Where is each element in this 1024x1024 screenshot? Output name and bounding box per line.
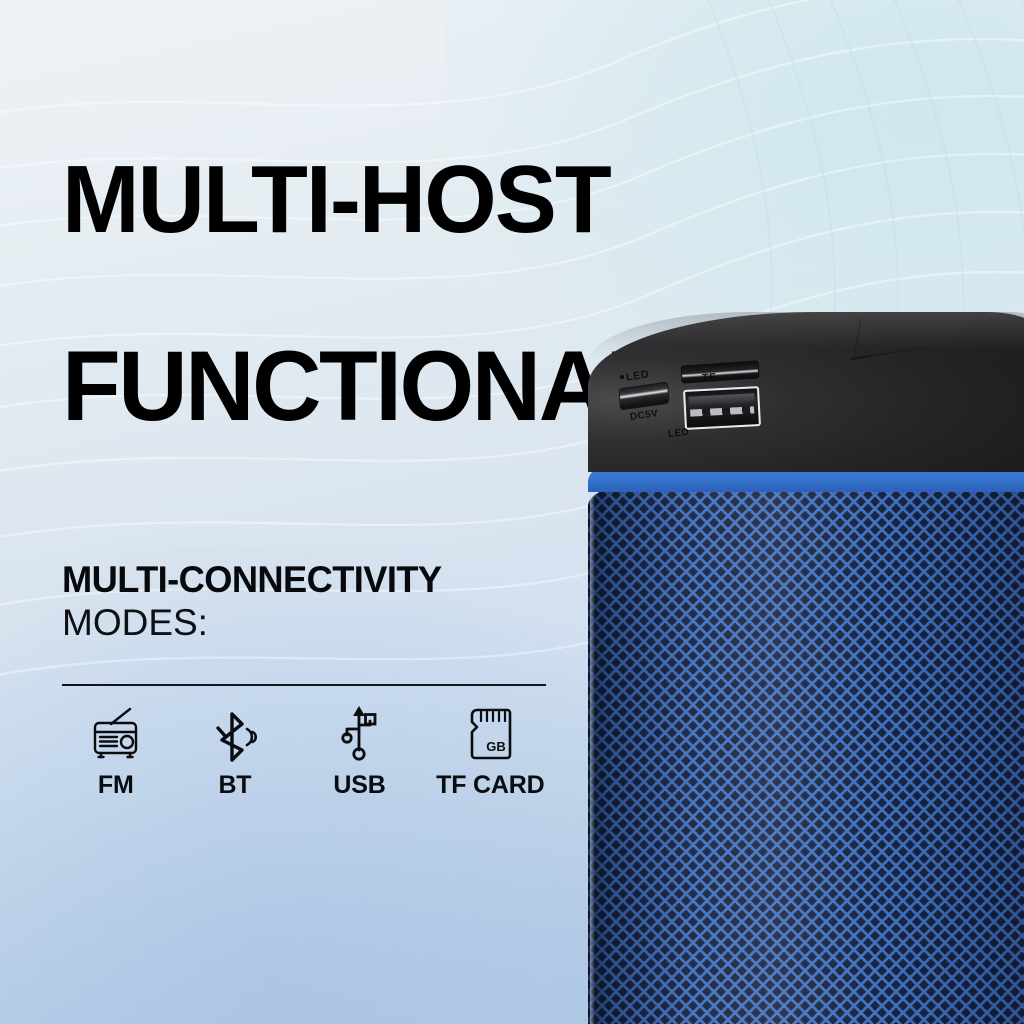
port-label-led-bottom: LED: [667, 427, 689, 441]
usb-port-contacts: [690, 406, 754, 416]
product-feature-banner: MULTI-HOST FUNCTIONALITY MULTI-CONNECTIV…: [0, 0, 1024, 1024]
feature-block-subtitle: MODES:: [62, 602, 562, 645]
connectivity-modes-list: FM BT: [58, 704, 558, 800]
mode-item-usb: USB: [296, 704, 422, 800]
usb-a-port: [683, 386, 761, 430]
feature-block: MULTI-CONNECTIVITY MODES:: [62, 560, 562, 645]
mode-label-fm: FM: [98, 771, 134, 800]
mode-label-bt: BT: [218, 771, 251, 800]
headline-line-1: MULTI-HOST: [62, 154, 935, 246]
mode-label-usb: USB: [333, 771, 385, 800]
sd-card-gb-text: GB: [487, 739, 507, 754]
product-image-bluetooth-speaker: LED DC5V TF LED: [588, 312, 1024, 1024]
tf-card-slot: [682, 361, 759, 382]
mode-item-fm: FM: [58, 704, 174, 800]
sd-card-icon: GB: [466, 704, 514, 762]
mode-label-tf-card: TF CARD: [436, 771, 544, 800]
mode-item-bt: BT: [174, 704, 297, 800]
usb-port-nub: [717, 424, 723, 430]
port-label-tf: TF: [702, 372, 717, 385]
speaker-seam-vertical: [852, 318, 862, 362]
usb-icon: [337, 704, 381, 762]
bluetooth-icon: [212, 704, 258, 762]
usb-port-inner-top: [688, 393, 754, 406]
micro-usb-charging-port: [620, 383, 669, 410]
led-indicator-dot: [620, 375, 624, 379]
speaker-seam-horizontal: [850, 346, 927, 360]
port-label-dc-in: DC5V: [629, 408, 659, 423]
mode-item-tf-card: GB TF CARD: [423, 704, 558, 800]
feature-block-title: MULTI-CONNECTIVITY: [62, 560, 552, 600]
speaker-top-housing: LED DC5V TF LED: [588, 312, 1024, 472]
speaker-port-panel: LED DC5V TF LED: [610, 352, 790, 448]
speaker-body: LED DC5V TF LED: [588, 312, 1024, 1024]
speaker-mesh-grille: [588, 462, 1024, 1024]
port-label-led-top: LED: [625, 368, 650, 383]
divider: [62, 684, 546, 686]
radio-icon: [90, 704, 142, 762]
